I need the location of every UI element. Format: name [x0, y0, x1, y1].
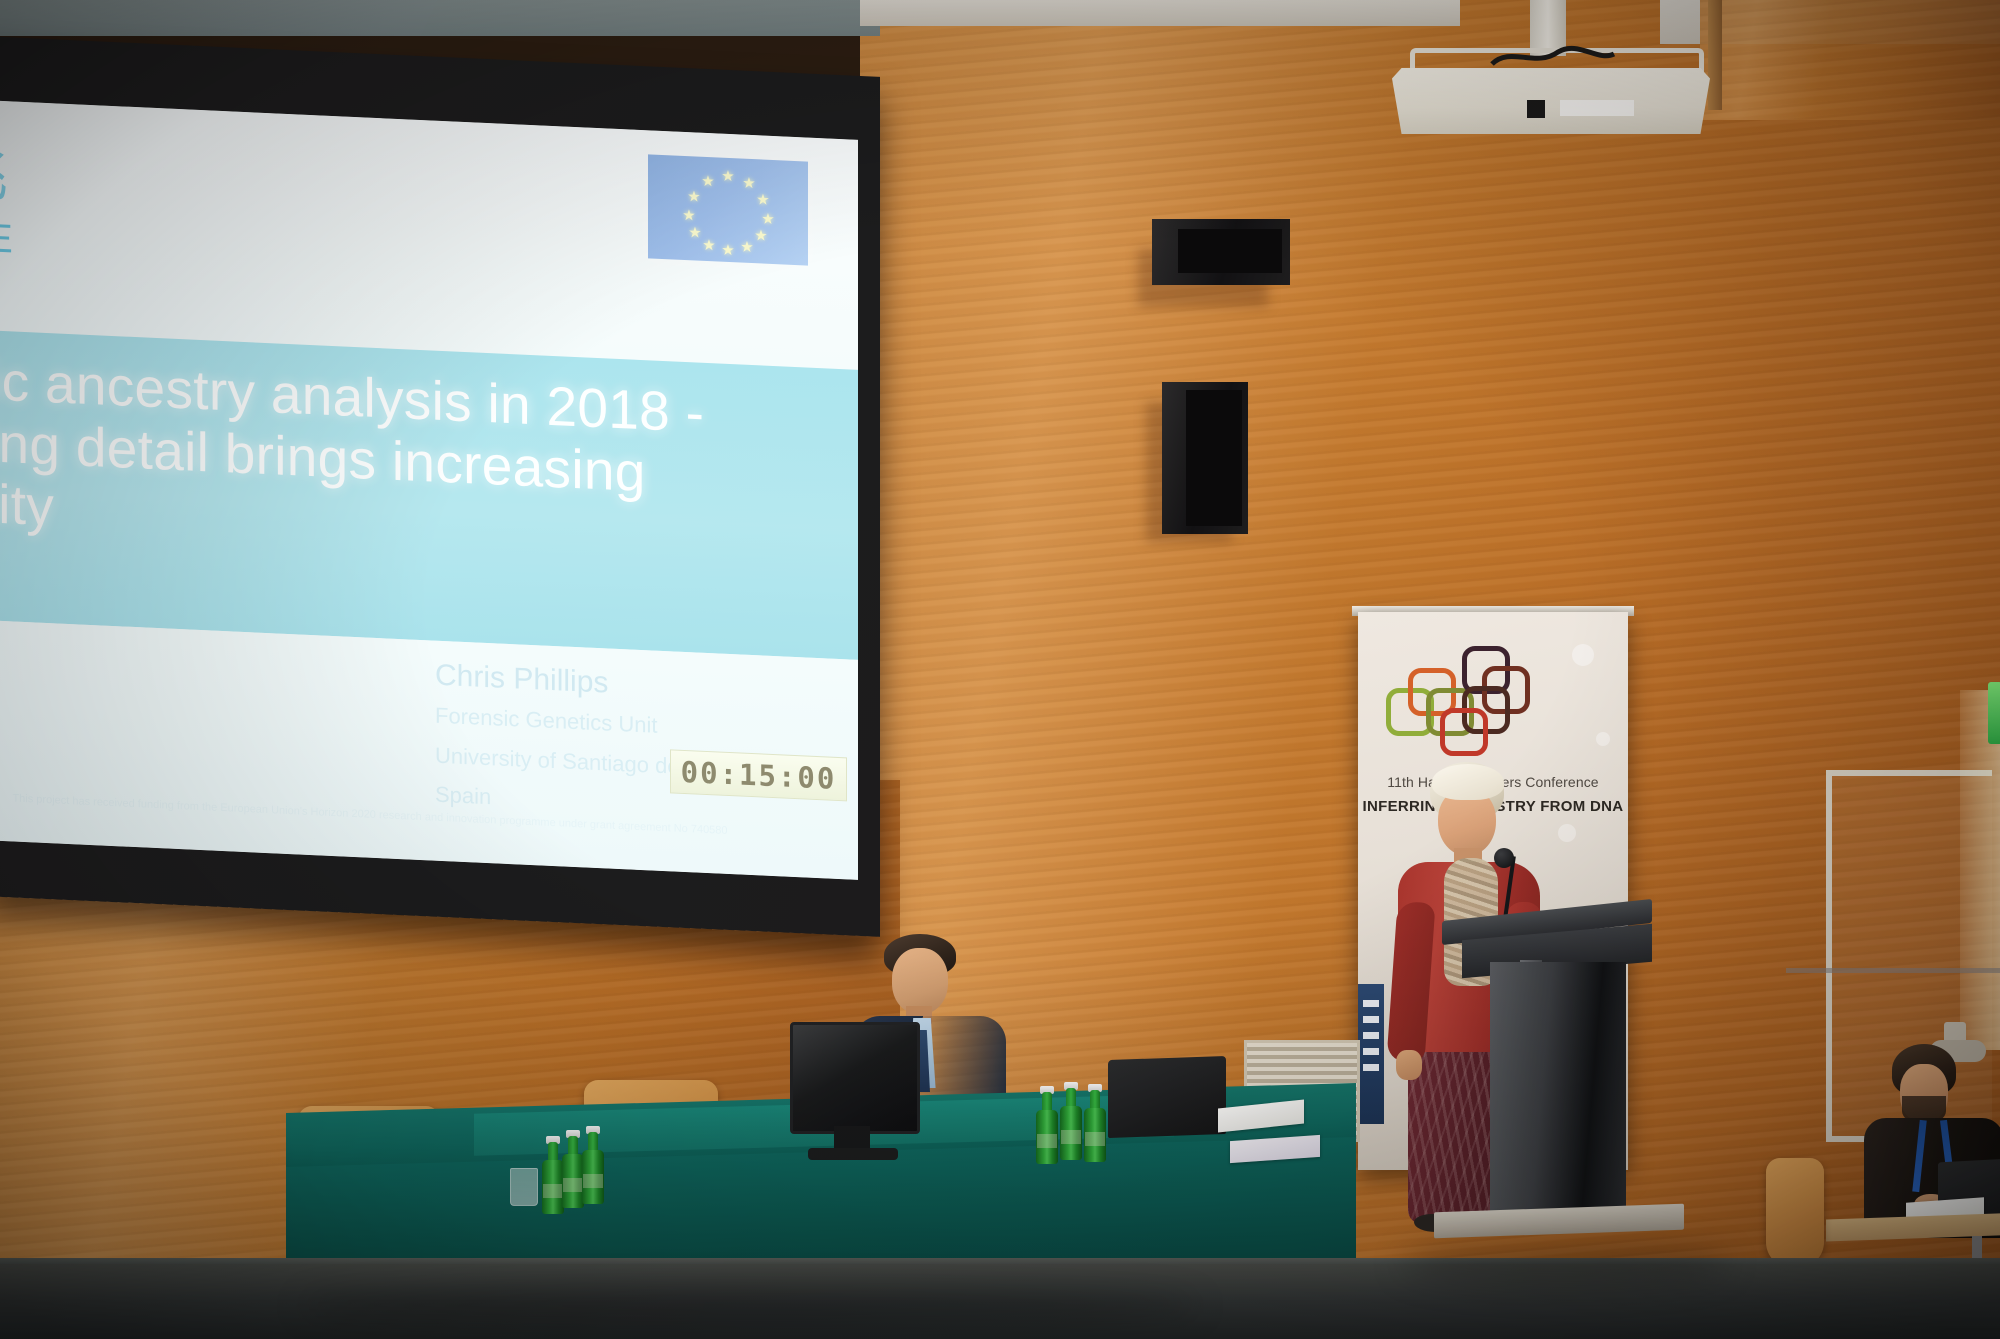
- laptop[interactable]: [1108, 1056, 1226, 1138]
- microphone-head: [1494, 848, 1514, 868]
- upper-wall-band: [0, 0, 880, 36]
- ceiling-strip: [860, 0, 1460, 26]
- projection-screen: ⻜ GE ★ ★ ★ ★ ★ ★ ★ ★ ★ ★ ★ ★ orensic anc…: [0, 36, 880, 937]
- logo-k-mark: ⻜: [0, 144, 8, 209]
- countdown-timer-value: 00:15:00: [681, 755, 837, 796]
- banner-highlight: [1572, 644, 1594, 666]
- wall-trim: [1708, 0, 1722, 110]
- wall-column-right: [1700, 0, 2000, 120]
- water-bottle[interactable]: [582, 1132, 604, 1204]
- bottle-label: [1085, 1132, 1105, 1146]
- bottle-label: [1061, 1130, 1081, 1144]
- technician-chair: [1766, 1158, 1824, 1268]
- eu-star: ★: [701, 175, 715, 190]
- eu-star: ★: [721, 170, 735, 185]
- logo-ge-text: GE: [0, 214, 22, 262]
- bottle-label: [543, 1184, 563, 1198]
- eu-star: ★: [754, 229, 768, 244]
- eu-star: ★: [687, 190, 701, 205]
- projector-label: [1560, 100, 1634, 116]
- eu-star: ★: [761, 212, 775, 227]
- speaker-grille: [1178, 229, 1282, 273]
- slide-affiliation-1: Forensic Genetics Unit: [435, 701, 855, 750]
- speaker-grille: [1186, 390, 1242, 526]
- slide-author-name: Chris Phillips: [435, 659, 608, 700]
- cable-svg: [1488, 44, 1618, 70]
- slide-author-block: Chris Phillips Forensic Genetics Unit Un…: [435, 661, 855, 829]
- podium-column: [1490, 962, 1626, 1212]
- conference-hall-photo: ⻜ GE ★ ★ ★ ★ ★ ★ ★ ★ ★ ★ ★ ★ orensic anc…: [0, 0, 2000, 1339]
- water-bottle[interactable]: [542, 1142, 564, 1214]
- wall-speaker-upper: [1152, 219, 1290, 285]
- monitor-screen: [790, 1022, 920, 1134]
- screen-surface: ⻜ GE ★ ★ ★ ★ ★ ★ ★ ★ ★ ★ ★ ★ orensic anc…: [0, 100, 858, 880]
- chair-back: [1766, 1158, 1824, 1268]
- water-bottle[interactable]: [1036, 1092, 1058, 1164]
- eu-star: ★: [740, 241, 754, 256]
- doorway-light: [1960, 690, 2000, 1050]
- projector-cables: [1488, 44, 1618, 70]
- table-floor-shadow: [300, 1286, 1200, 1326]
- institution-logo: ⻜ GE: [0, 138, 86, 274]
- eu-star: ★: [688, 226, 702, 241]
- bottle-label: [1037, 1134, 1057, 1148]
- exit-indicator-light: [1988, 682, 2000, 744]
- drinking-glass[interactable]: [510, 1168, 538, 1206]
- logo-square-red: [1440, 708, 1488, 756]
- banner-highlight: [1596, 732, 1610, 746]
- eu-star: ★: [742, 177, 756, 192]
- bottle-label: [583, 1174, 603, 1188]
- conference-logo: [1384, 642, 1534, 762]
- projector-port: [1527, 100, 1545, 118]
- eu-star: ★: [756, 193, 770, 208]
- bottle-label: [563, 1178, 583, 1192]
- eu-star: ★: [702, 239, 716, 254]
- water-bottle[interactable]: [562, 1136, 584, 1208]
- wall-panel-seam: [1786, 968, 2000, 973]
- water-bottle[interactable]: [1084, 1090, 1106, 1162]
- podium-base: [1434, 1204, 1684, 1239]
- desktop-monitor[interactable]: [790, 1022, 914, 1162]
- presenter-hair-front: [1432, 764, 1504, 800]
- ceiling-projector: [1392, 68, 1710, 134]
- speaking-podium: [1462, 932, 1652, 1272]
- water-bottle[interactable]: [1060, 1088, 1082, 1160]
- wall-speaker-lower: [1162, 382, 1248, 534]
- presenter-left-hand: [1396, 1050, 1422, 1080]
- eu-star: ★: [721, 244, 735, 259]
- countdown-timer: 00:15:00: [670, 749, 847, 801]
- european-union-flag: ★ ★ ★ ★ ★ ★ ★ ★ ★ ★ ★ ★: [648, 154, 808, 265]
- monitor-foot: [808, 1148, 898, 1160]
- eu-star: ★: [682, 209, 696, 224]
- panelist-face: [892, 948, 948, 1014]
- podium-floor-shadow: [1400, 1240, 1730, 1286]
